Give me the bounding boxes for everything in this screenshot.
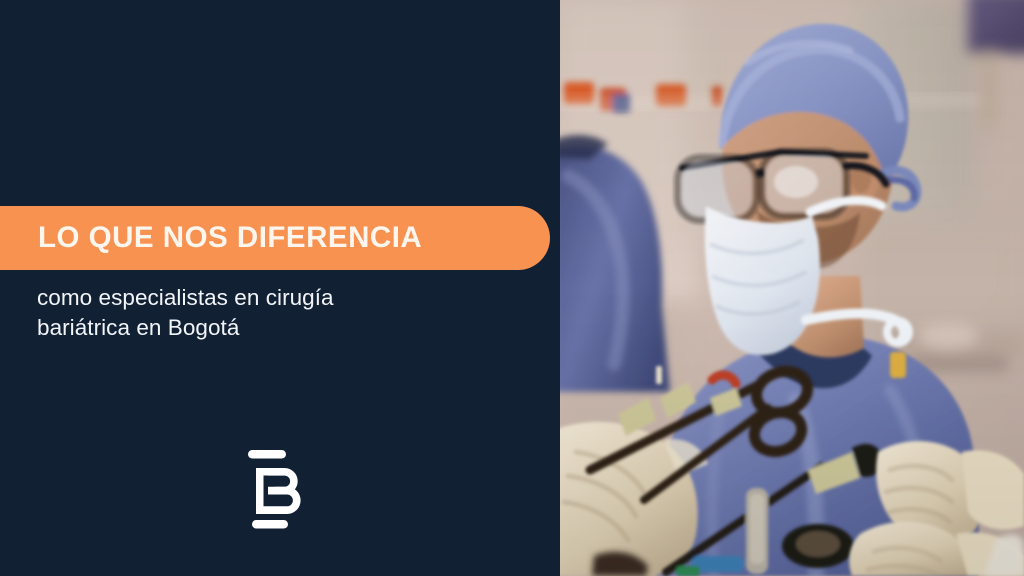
headline-badge-text: LO QUE NOS DIFERENCIA: [38, 206, 538, 270]
subtitle-line-1: como especialistas en cirugía: [37, 283, 507, 313]
subtitle-line-2: bariátrica en Bogotá: [37, 313, 507, 343]
surgery-photo: [560, 0, 1024, 576]
b-monogram-logo-icon: [244, 450, 306, 532]
surgery-photo-illustration: [560, 0, 1024, 576]
b-monogram-logo: [244, 450, 306, 532]
content-panel: LO QUE NOS DIFERENCIA como especialistas…: [0, 0, 560, 576]
subtitle-text: como especialistas en cirugía bariátrica…: [37, 283, 507, 343]
banner-canvas: LO QUE NOS DIFERENCIA como especialistas…: [0, 0, 1024, 576]
